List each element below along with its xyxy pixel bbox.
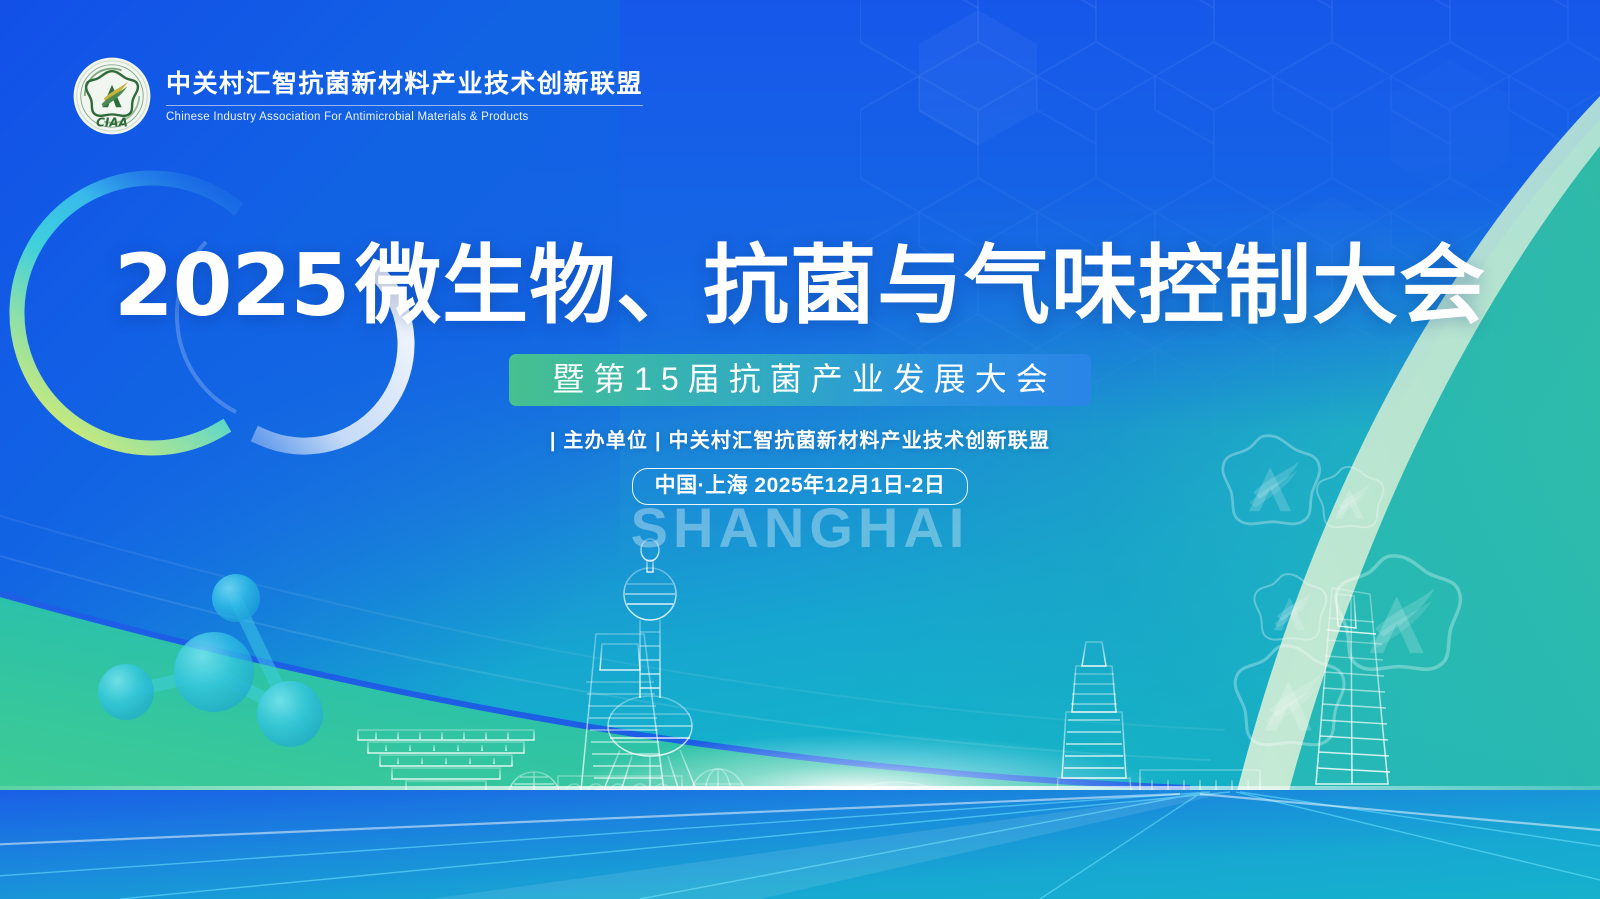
title-year: 2025 (114, 236, 349, 336)
conference-banner: CIAA 中关村汇智抗菌新材料产业技术创新联盟 Chinese Industry… (0, 0, 1600, 899)
organizer-line: | 主办单位 | 中关村汇智抗菌新材料产业技术创新联盟 (550, 424, 1050, 453)
association-name-cn: 中关村汇智抗菌新材料产业技术创新联盟 (166, 71, 643, 99)
page-title: 2025微生物、抗菌与气味控制大会 (114, 243, 1486, 329)
date-location-badge: 中国·上海 2025年12月1日-2日 (632, 468, 969, 505)
association-name-en: Chinese Industry Association For Antimic… (166, 111, 643, 123)
main-title-row: 2025微生物、抗菌与气味控制大会 (0, 243, 1600, 329)
svg-text:CIAA: CIAA (96, 115, 128, 129)
organizer-row: | 主办单位 | 中关村汇智抗菌新材料产业技术创新联盟 (0, 424, 1600, 453)
association-logo: CIAA 中关村汇智抗菌新材料产业技术创新联盟 Chinese Industry… (72, 56, 643, 136)
association-name-block: 中关村汇智抗菌新材料产业技术创新联盟 Chinese Industry Asso… (166, 69, 643, 124)
ciaa-emblem: CIAA (72, 56, 152, 136)
subtitle-pill: 暨第15届抗菌产业发展大会 (509, 354, 1091, 406)
subtitle-row: 暨第15届抗菌产业发展大会 (0, 354, 1600, 406)
date-row: 中国·上海 2025年12月1日-2日 (0, 468, 1600, 505)
logo-divider (166, 105, 643, 106)
title-text: 微生物、抗菌与气味控制大会 (355, 238, 1486, 334)
